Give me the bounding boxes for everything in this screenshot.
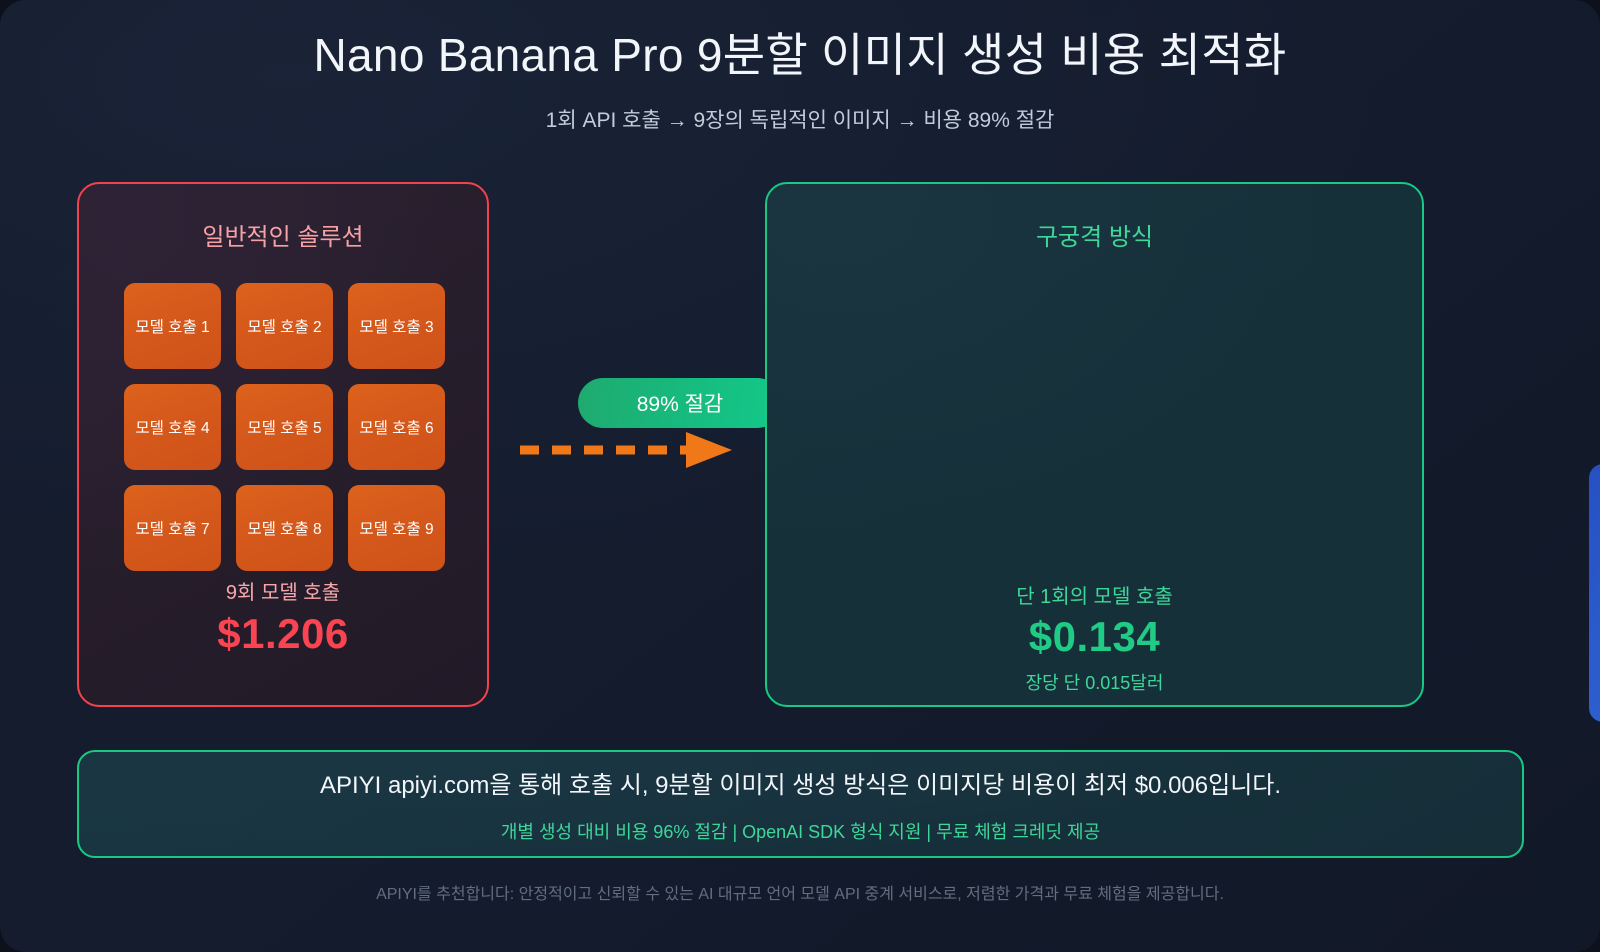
model-call-tile: 모델 호출 8: [236, 485, 333, 571]
savings-badge-label: 89% 절감: [637, 388, 724, 418]
left-cost-summary: 9회 모델 호출 $1.206: [79, 576, 487, 658]
left-panel-heading: 일반적인 솔루션: [79, 217, 487, 252]
header: Nano Banana Pro 9분할 이미지 생성 비용 최적화 1회 API…: [0, 28, 1600, 134]
dashed-arrow-right-icon: [518, 430, 733, 470]
right-cost-sublabel: 장당 단 0.015달러: [767, 669, 1422, 695]
model-call-tile: 모델 호출 6: [348, 384, 445, 470]
promo-banner-features: 개별 생성 대비 비용 96% 절감 | OpenAI SDK 형식 지원 | …: [501, 818, 1100, 844]
promo-banner-headline: APIYI apiyi.com을 통해 호출 시, 9분할 이미지 생성 방식은…: [320, 765, 1281, 800]
left-cost-value: $1.206: [79, 610, 487, 658]
right-cost-summary: 단 1회의 모델 호출 $0.134 장당 단 0.015달러: [767, 580, 1422, 695]
api-call-card: 1회 API 호출 1 2 3 4 5 6 7 8 9: [1589, 464, 1600, 722]
model-call-tile: 모델 호출 3: [348, 283, 445, 369]
promo-banner: APIYI apiyi.com을 통해 호출 시, 9분할 이미지 생성 방식은…: [77, 750, 1524, 858]
page-title: Nano Banana Pro 9분할 이미지 생성 비용 최적화: [0, 28, 1600, 83]
model-call-tile-grid: 모델 호출 1 모델 호출 2 모델 호출 3 모델 호출 4 모델 호출 5 …: [124, 283, 445, 571]
page-subtitle: 1회 API 호출 → 9장의 독립적인 이미지 → 비용 89% 절감: [0, 104, 1600, 134]
panel-conventional-solution: 일반적인 솔루션 모델 호출 1 모델 호출 2 모델 호출 3 모델 호출 4…: [77, 182, 489, 707]
left-cost-label: 9회 모델 호출: [79, 576, 487, 605]
model-call-tile: 모델 호출 4: [124, 384, 221, 470]
panel-grid-method: 구궁격 방식 1회 API 호출 1 2 3 4 5 6 7 8 9: [765, 182, 1424, 707]
model-call-tile: 모델 호출 1: [124, 283, 221, 369]
model-call-tile: 모델 호출 9: [348, 485, 445, 571]
api-card-title: 1회 API 호출: [1589, 490, 1600, 517]
footer-note: APIYI를 추천합니다: 안정적이고 신뢰할 수 있는 AI 대규모 언어 모…: [0, 880, 1600, 904]
infographic-poster: Nano Banana Pro 9분할 이미지 생성 비용 최적화 1회 API…: [0, 0, 1600, 952]
right-cost-label: 단 1회의 모델 호출: [767, 580, 1422, 609]
model-call-tile: 모델 호출 2: [236, 283, 333, 369]
savings-badge: 89% 절감: [578, 378, 782, 428]
model-call-tile: 모델 호출 7: [124, 485, 221, 571]
model-call-tile: 모델 호출 5: [236, 384, 333, 470]
right-cost-value: $0.134: [767, 613, 1422, 661]
right-panel-heading: 구궁격 방식: [767, 217, 1422, 252]
